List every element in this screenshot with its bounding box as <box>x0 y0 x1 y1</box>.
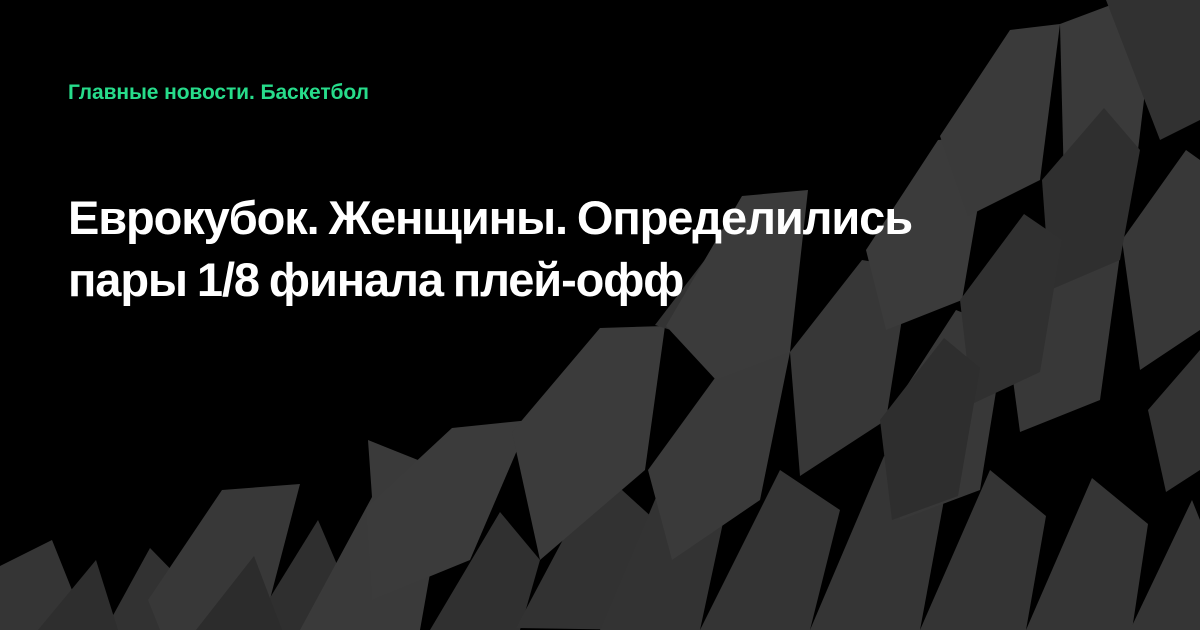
kicker-category-label: Главные новости. Баскетбол <box>68 80 369 106</box>
page-title: Еврокубок. Женщины. Определились пары 1/… <box>68 187 1028 311</box>
news-share-card: Главные новости. Баскетбол Еврокубок. Же… <box>0 0 1200 630</box>
